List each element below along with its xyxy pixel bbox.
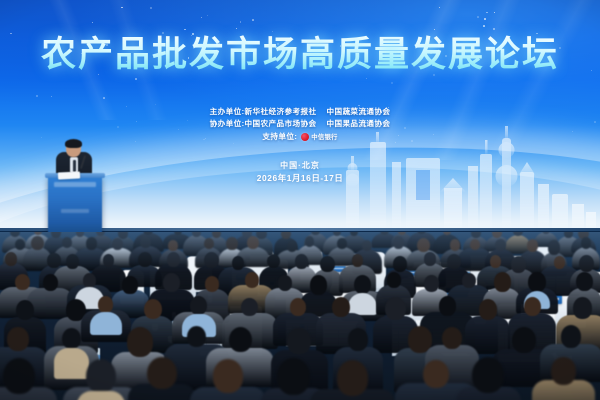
sparkle-dot xyxy=(434,29,435,30)
audience-person-head xyxy=(66,254,80,269)
audience-person-head xyxy=(229,327,252,353)
audience-person-head xyxy=(548,240,561,254)
audience-person-shoulder xyxy=(54,348,89,379)
supporter-label: 支持单位: xyxy=(262,131,297,143)
sparkle-dot xyxy=(36,95,37,96)
audience-person-head xyxy=(439,296,456,315)
audience-person-head xyxy=(554,256,565,268)
audience-person-head xyxy=(524,297,541,316)
audience-person-head xyxy=(332,297,350,317)
audience-person-head xyxy=(213,359,243,392)
audience-person-shoulder xyxy=(77,391,126,400)
audience-person-head xyxy=(15,239,25,250)
sparkle-dot xyxy=(366,78,367,79)
audience-person-head xyxy=(212,232,221,238)
audience-person-head xyxy=(15,274,30,291)
audience-person-head xyxy=(348,328,368,351)
audience-person-head xyxy=(573,297,592,318)
coorganizer-label: 协办单位: xyxy=(210,119,245,128)
host-line: 主办单位:新华社经济参考报社中国蔬菜流通协会 xyxy=(0,106,600,118)
audience-person-head xyxy=(564,232,573,238)
audience-person-head xyxy=(62,328,81,350)
audience-person-head xyxy=(122,276,138,293)
audience-person-head xyxy=(387,272,401,288)
audience-person-head xyxy=(576,272,593,291)
citic-bank-name: 中信银行 xyxy=(311,134,337,141)
audience-person-head xyxy=(581,237,592,249)
audience-person-head xyxy=(511,256,526,273)
audience-person-head xyxy=(226,237,237,249)
speaker-tie xyxy=(73,160,76,172)
audience-person-head xyxy=(579,255,594,272)
audience-person-head xyxy=(337,360,369,396)
audience-person-head xyxy=(245,272,259,288)
audience-person-head xyxy=(337,238,347,249)
audience-person-head xyxy=(393,236,404,248)
audience-person-head xyxy=(86,359,116,393)
sparkle-dot xyxy=(493,28,495,30)
audience-person-head xyxy=(144,299,162,319)
audience-person-head xyxy=(62,237,72,248)
sparkle-dot xyxy=(439,7,440,8)
sparkle-dot xyxy=(486,12,488,14)
audience-person-head xyxy=(98,296,113,313)
audience-person-head xyxy=(247,236,259,249)
sparkle-dot xyxy=(252,19,254,21)
host-unit-1: 新华社经济参考报社 xyxy=(245,107,317,116)
sparkle-dot xyxy=(272,31,273,32)
audience-person-head xyxy=(470,239,480,250)
audience-person-head xyxy=(232,256,244,270)
audience-person-head xyxy=(417,238,430,253)
audience-person-head xyxy=(140,236,151,248)
audience-person-head xyxy=(241,298,258,317)
audience-person-head xyxy=(527,239,539,252)
sparkle-dot xyxy=(150,7,152,9)
coorganizer-unit-1: 中国农产品市场协会 xyxy=(245,119,317,128)
coorganizer-line: 协办单位:中国农产品市场协会中国果品流通协会 xyxy=(0,118,600,130)
audience-person-head xyxy=(362,240,372,251)
sparkle-dot xyxy=(484,18,486,20)
sparkle-dot xyxy=(135,78,137,80)
organizer-block: 主办单位:新华社经济参考报社中国蔬菜流通协会 协办单位:中国农产品市场协会中国果… xyxy=(0,106,600,143)
citic-mark-icon xyxy=(301,133,309,141)
audience-person-head xyxy=(512,327,536,354)
conference-photo: 农产品批发市场高质量发展论坛 农产品批发市场高质量发展论坛 主办单位:新华社经济… xyxy=(0,0,600,400)
audience-person-head xyxy=(31,236,44,250)
audience-person-head xyxy=(472,357,504,393)
audience-person-head xyxy=(281,232,291,239)
audience-person-head xyxy=(86,237,97,250)
audience-person-head xyxy=(305,236,315,247)
podium-banner-title xyxy=(54,182,96,187)
audience-person-head xyxy=(3,358,35,394)
audience-person-head xyxy=(163,273,180,292)
audience-person-head xyxy=(127,327,153,357)
audience-person-head xyxy=(393,256,407,272)
audience-person-head xyxy=(168,240,178,251)
audience-person-head xyxy=(462,273,476,288)
host-label: 主办单位: xyxy=(210,107,245,116)
audience-person-head xyxy=(103,254,114,266)
audience-person-shoulder xyxy=(90,312,122,334)
audience-person-head xyxy=(479,299,497,319)
audience-person-head xyxy=(204,238,214,250)
audience-person-head xyxy=(190,296,207,315)
sparkle-dot xyxy=(155,104,156,105)
sparkle-dot xyxy=(92,22,93,23)
sparkle-dot xyxy=(201,17,202,18)
sparkle-dot xyxy=(236,28,237,29)
sparkle-dot xyxy=(103,97,105,99)
coorganizer-unit-2: 中国果品流通协会 xyxy=(326,119,390,128)
audience-person-head xyxy=(450,239,461,251)
audience-person-head xyxy=(495,239,506,251)
audience-person-head xyxy=(205,276,219,292)
audience-person-head xyxy=(277,358,310,395)
audience-person-head xyxy=(167,252,180,267)
citic-bank-logo: 中信银行 xyxy=(301,133,337,141)
audience-person-head xyxy=(138,252,152,268)
audience-person-shoulder xyxy=(348,293,376,314)
audience-person-head xyxy=(490,255,502,268)
forum-title: 农产品批发市场高质量发展论坛 xyxy=(0,34,600,76)
audience-person-head xyxy=(287,240,297,251)
supporter-line: 支持单位: 中信银行 xyxy=(0,131,600,143)
audience-person-head xyxy=(423,360,449,389)
sparkle-dot xyxy=(51,96,52,97)
sparkle-dot xyxy=(184,29,185,30)
audience-person-head xyxy=(528,272,546,292)
sparkle-dot xyxy=(207,15,208,16)
audience-person-head xyxy=(354,275,371,295)
audience-person-head xyxy=(290,298,306,316)
audience-person-head xyxy=(7,327,28,351)
sparkle-dot xyxy=(391,82,393,84)
audience-person-head xyxy=(112,238,123,251)
sparkle-dot xyxy=(494,12,495,13)
audience-person-head xyxy=(561,325,581,348)
audience-person-head xyxy=(295,254,308,269)
podium xyxy=(48,176,102,238)
audience-person-head xyxy=(147,357,176,390)
audience-person-head xyxy=(442,327,462,350)
sparkle-dot xyxy=(477,16,479,18)
sparkle-dot xyxy=(240,21,242,23)
sparkle-dot xyxy=(483,25,485,27)
audience-person-head xyxy=(551,357,576,385)
speaker-hair xyxy=(65,139,82,148)
sparkle-dot xyxy=(121,7,122,8)
audience-person-head xyxy=(310,275,328,295)
podium-banner-subtitle xyxy=(61,209,89,213)
host-unit-2: 中国蔬菜流通协会 xyxy=(326,107,390,116)
audience-person-head xyxy=(16,300,34,321)
audience-person-head xyxy=(320,256,335,272)
audience-person-head xyxy=(204,252,219,269)
audience-person-head xyxy=(447,254,461,269)
audience-person-head xyxy=(278,275,292,291)
audience-person-head xyxy=(287,328,310,354)
speech-papers xyxy=(58,171,80,179)
audience-person-head xyxy=(494,272,511,291)
audience-person-head xyxy=(43,274,58,291)
audience-person-head xyxy=(83,273,96,288)
audience-person-head xyxy=(47,253,60,268)
audience-person-head xyxy=(424,252,436,265)
audience-area xyxy=(0,232,600,400)
audience-person-head xyxy=(5,252,18,266)
audience-person-head xyxy=(385,297,406,320)
audience-person-head xyxy=(424,275,439,292)
